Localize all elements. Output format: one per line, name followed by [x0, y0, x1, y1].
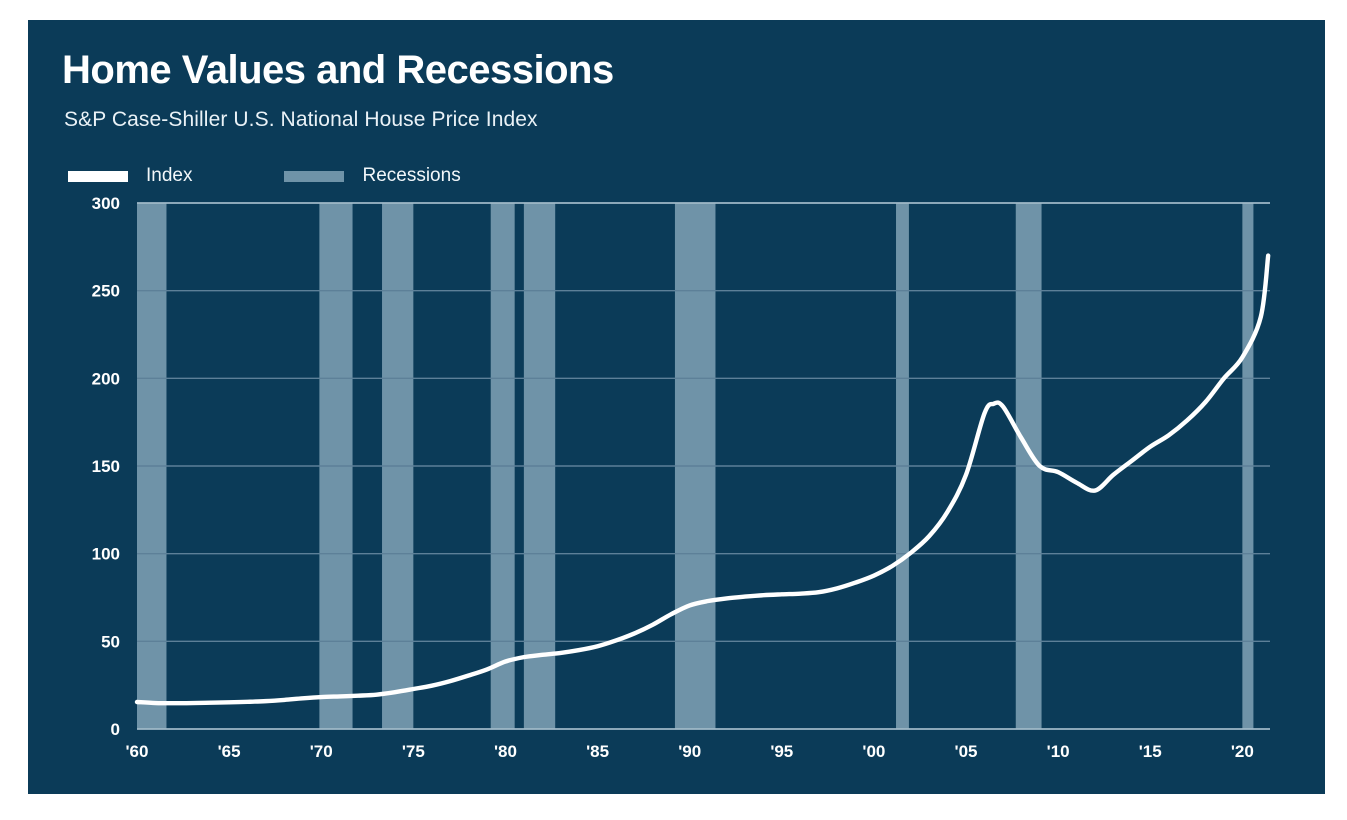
y-axis-tick-label: 100	[92, 545, 120, 564]
x-axis-tick-label: '15	[1139, 742, 1162, 761]
y-axis-tick-label: 50	[101, 632, 120, 651]
y-axis-tick-label: 150	[92, 457, 120, 476]
chart-panel: Home Values and Recessions S&P Case-Shil…	[28, 20, 1325, 794]
x-axis-tick-label: '75	[402, 742, 425, 761]
y-axis-tick-labels: 050100150200250300	[92, 194, 120, 739]
x-axis-tick-label: '05	[955, 742, 978, 761]
x-axis-tick-label: '10	[1047, 742, 1070, 761]
x-axis-tick-label: '85	[586, 742, 609, 761]
plot-area: 050100150200250300 '60'65'70'75'80'85'90…	[28, 20, 1325, 794]
x-axis-tick-label: '70	[310, 742, 333, 761]
x-axis-tick-label: '60	[126, 742, 149, 761]
x-axis-tick-label: '95	[770, 742, 793, 761]
x-axis-tick-label: '80	[494, 742, 517, 761]
x-axis-tick-labels: '60'65'70'75'80'85'90'95'00'05'10'15'20	[126, 742, 1254, 761]
x-axis-tick-label: '00	[862, 742, 885, 761]
line-chart: 050100150200250300 '60'65'70'75'80'85'90…	[28, 20, 1325, 794]
y-axis-tick-label: 300	[92, 194, 120, 213]
x-axis-tick-label: '90	[678, 742, 701, 761]
y-axis-tick-label: 200	[92, 369, 120, 388]
y-axis-tick-label: 250	[92, 282, 120, 301]
x-axis-tick-label: '20	[1231, 742, 1254, 761]
x-axis-tick-label: '65	[218, 742, 241, 761]
y-axis-tick-label: 0	[111, 720, 120, 739]
